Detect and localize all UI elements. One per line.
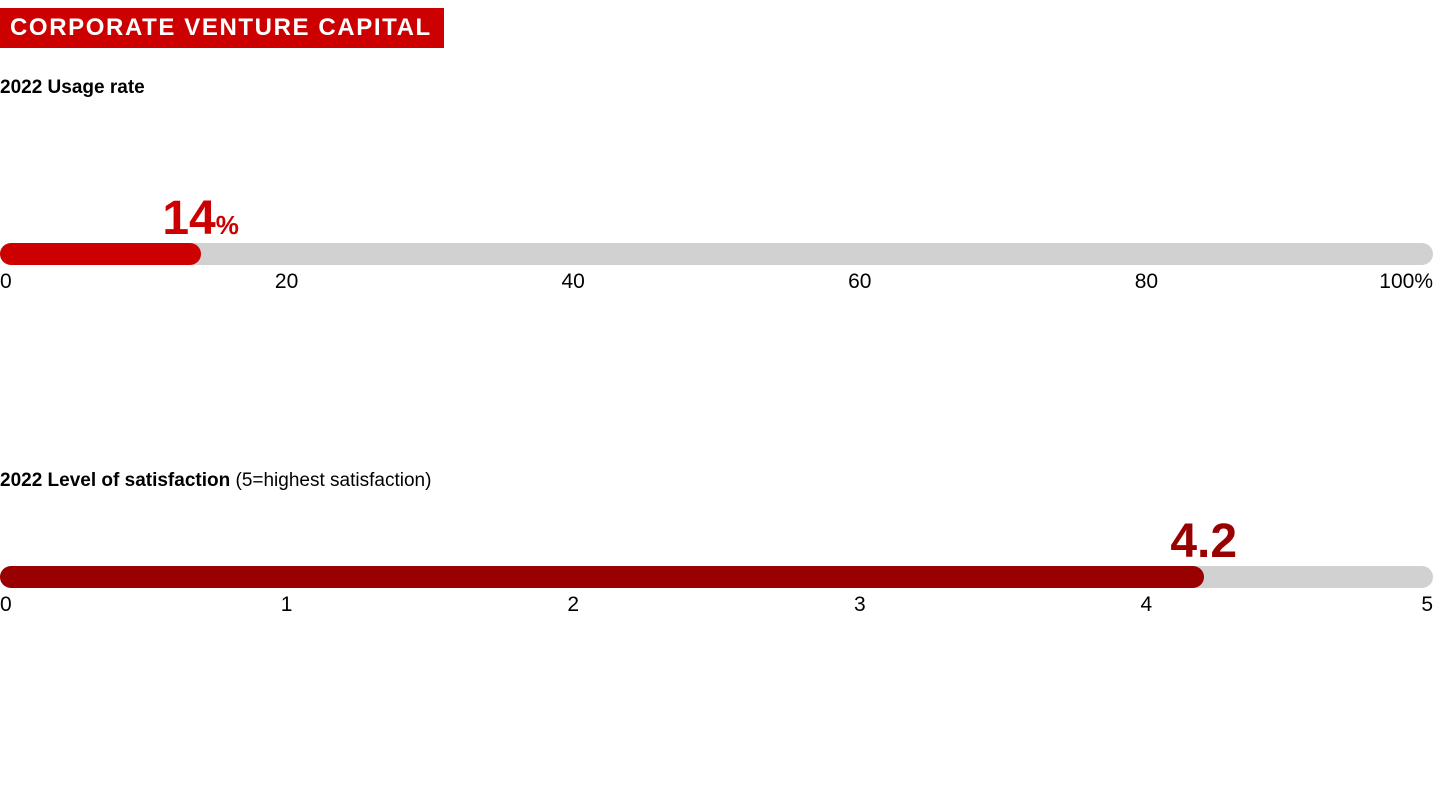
satisfaction-value-row: 4.2 [0, 508, 1433, 566]
corporate-venture-capital-banner: CORPORATE VENTURE CAPITAL [0, 8, 444, 48]
usage-rate-axis: 020406080100% [0, 269, 1433, 299]
satisfaction-axis-tick-1: 1 [281, 592, 293, 617]
satisfaction-value-number: 4.2 [1170, 515, 1237, 568]
usage-rate-axis-tick-20: 20 [275, 269, 298, 294]
satisfaction-axis-tick-0: 0 [0, 592, 12, 617]
satisfaction-track [0, 566, 1433, 588]
usage-rate-axis-tick-0: 0 [0, 269, 12, 294]
satisfaction-axis-tick-2: 2 [567, 592, 579, 617]
usage-rate-value-number: 14 [162, 192, 215, 245]
satisfaction-value: 4.2 [1170, 518, 1237, 566]
satisfaction-heading-text: 2022 Level of satisfaction [0, 470, 230, 491]
satisfaction-axis: 012345 [0, 592, 1433, 622]
satisfaction-axis-tick-4: 4 [1141, 592, 1153, 617]
usage-rate-value-unit: % [216, 210, 239, 240]
satisfaction-fill [0, 566, 1204, 588]
usage-rate-axis-tick-40: 40 [562, 269, 585, 294]
usage-rate-heading: 2022 Usage rate [0, 78, 145, 97]
usage-rate-heading-text: 2022 Usage rate [0, 77, 145, 98]
usage-rate-fill [0, 243, 201, 265]
satisfaction-axis-tick-5: 5 [1421, 592, 1433, 617]
satisfaction-gauge: 4.2 012345 [0, 508, 1433, 622]
usage-rate-value: 14% [162, 195, 239, 243]
usage-rate-gauge: 14% 020406080100% [0, 185, 1433, 299]
usage-rate-axis-tick-100: 100% [1379, 269, 1433, 294]
satisfaction-heading-note: (5=highest satisfaction) [230, 470, 431, 491]
satisfaction-heading: 2022 Level of satisfaction (5=highest sa… [0, 471, 431, 490]
satisfaction-axis-tick-3: 3 [854, 592, 866, 617]
usage-rate-axis-tick-60: 60 [848, 269, 871, 294]
usage-rate-axis-tick-80: 80 [1135, 269, 1158, 294]
usage-rate-value-row: 14% [0, 185, 1433, 243]
banner-title: CORPORATE VENTURE CAPITAL [10, 16, 432, 40]
usage-rate-track [0, 243, 1433, 265]
